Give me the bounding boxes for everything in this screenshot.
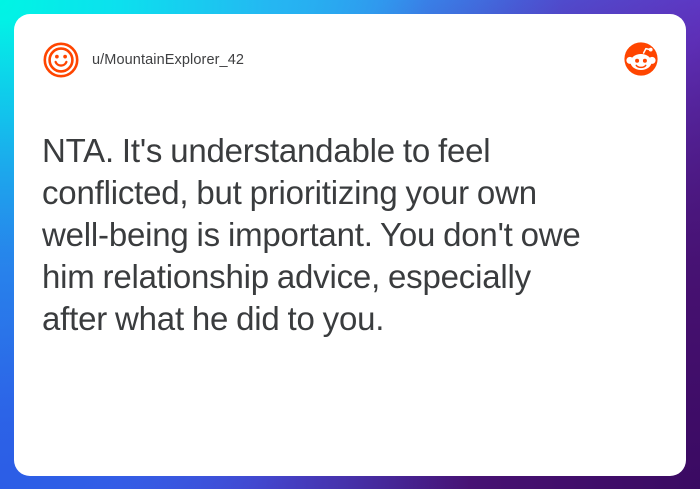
comment-card: u/MountainExplorer_42 NTA. It's [14,14,686,476]
comment-text: NTA. It's understandable to feel conflic… [42,130,658,340]
comment-line: NTA. It's understandable to feel [42,130,658,172]
username-label: u/MountainExplorer_42 [92,52,244,68]
smiley-face-avatar-icon[interactable] [42,41,80,79]
comment-line: well-being is important. You don't owe [42,214,658,256]
reddit-snoo-icon[interactable] [624,42,658,76]
card-header: u/MountainExplorer_42 [42,40,658,80]
comment-line: after what he did to you. [42,298,658,340]
gradient-background: u/MountainExplorer_42 NTA. It's [0,0,700,489]
comment-line: conflicted, but prioritizing your own [42,172,658,214]
comment-line: him relationship advice, especially [42,256,658,298]
